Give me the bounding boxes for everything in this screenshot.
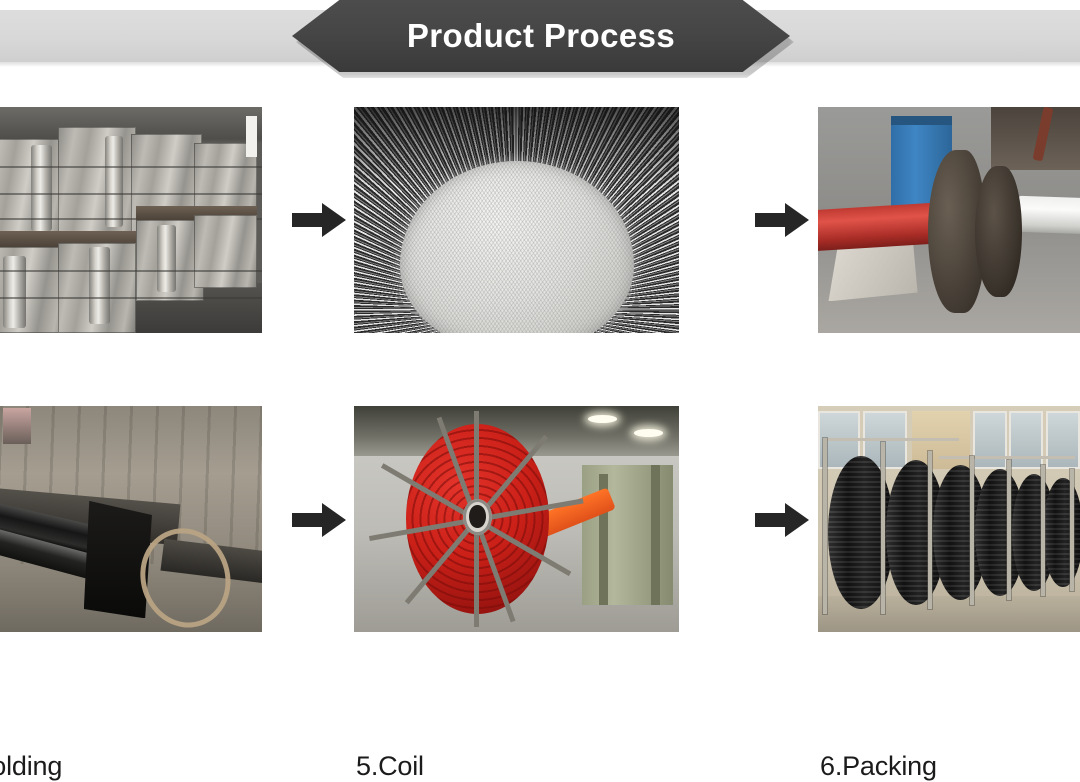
step-6-label: 6.Packing xyxy=(820,751,937,782)
fiber-braid-photo xyxy=(354,107,679,333)
cool-colding-photo xyxy=(0,406,262,632)
step-4-label: colding xyxy=(0,751,62,782)
packing-photo xyxy=(818,406,1080,632)
arrow-right-icon xyxy=(755,500,809,540)
raw-material-photo xyxy=(0,107,262,333)
coil-photo xyxy=(354,406,679,632)
page-header: Product Process xyxy=(0,0,1080,80)
page-title: Product Process xyxy=(407,19,675,54)
arrow-right-icon xyxy=(292,200,346,240)
arrow-right-icon xyxy=(292,500,346,540)
extrusion-photo xyxy=(818,107,1080,333)
step-5-label: 5.Coil xyxy=(356,751,424,782)
arrow-right-icon xyxy=(755,200,809,240)
header-banner-hexagon: Product Process xyxy=(292,0,790,72)
